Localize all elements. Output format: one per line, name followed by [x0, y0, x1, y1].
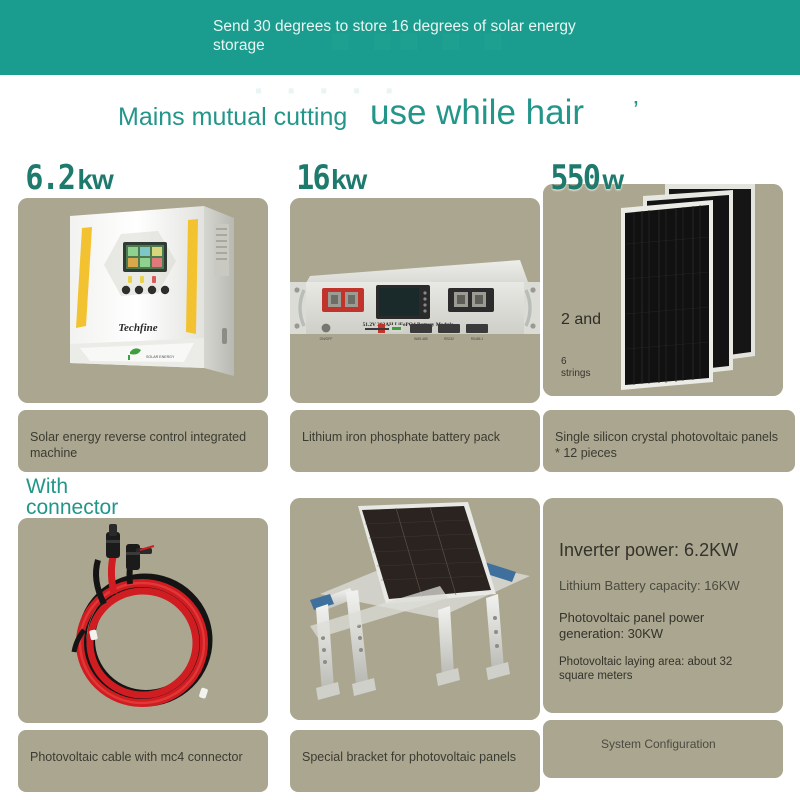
power-badge-battery: 16kw — [294, 158, 366, 198]
lithium-battery-rack-photo: 51.2V 302AH LiFePO4 Battery Module ON/OF… — [290, 198, 540, 403]
card-solar-inverter[interactable]: 6.2kw — [18, 160, 268, 480]
panels-caption: Single silicon crystal photovoltaic pane… — [543, 410, 795, 472]
heading-primary: use while hair — [370, 93, 584, 133]
svg-text:6: 6 — [561, 356, 567, 367]
svg-text:Techfine: Techfine — [118, 322, 157, 334]
power-badge-unit: kw — [331, 164, 366, 195]
solar-inverter-photo: Techfine SOLAR ENERGY — [18, 198, 268, 403]
svg-text:RS485-1: RS485-1 — [471, 337, 484, 341]
connector-badge: With connector — [26, 476, 156, 518]
power-badge-panel: 550w — [547, 158, 623, 198]
svg-text:strings: strings — [561, 368, 590, 379]
card-pv-bracket[interactable]: Special bracket for photovoltaic panels — [290, 480, 540, 800]
top-banner: ■ ■■ ■ ■ Send 30 degrees to store 16 deg… — [0, 0, 800, 75]
bracket-caption: Special bracket for photovoltaic panels — [290, 730, 540, 792]
battery-caption: Lithium iron phosphate battery pack — [290, 410, 540, 472]
card-pv-cable[interactable]: With connector — [18, 480, 268, 800]
banner-title: Send 30 degrees to store 16 degrees of s… — [213, 17, 613, 55]
heading-secondary: Mains mutual cutting — [118, 103, 347, 132]
battery-image: 51.2V 302AH LiFePO4 Battery Module ON/OF… — [290, 198, 540, 403]
spec-laying-area: Photovoltaic laying area: about 32 squar… — [559, 655, 767, 683]
power-badge-unit: w — [602, 164, 623, 195]
card-lithium-battery[interactable]: 16kw — [290, 160, 540, 480]
spec-panel: Inverter power: 6.2KW Lithium Battery ca… — [543, 498, 783, 713]
power-badge-number: 6.2 — [25, 158, 74, 198]
main-heading-area: ▪ ▪ ▪ ▪ ▪ Mains mutual cutting use while… — [0, 75, 800, 160]
product-card-grid: 6.2kw — [0, 160, 800, 800]
power-badge-number: 550 — [550, 158, 599, 198]
spec-inverter-power: Inverter power: 6.2KW — [559, 540, 767, 561]
solar-panels-stack-photo: 2 and 6 strings — [543, 184, 783, 396]
svg-text:BMS-485: BMS-485 — [414, 337, 428, 341]
card-solar-panels[interactable]: 550w — [543, 160, 783, 480]
power-badge-number: 16 — [296, 158, 329, 198]
svg-text:ON/OFF: ON/OFF — [320, 337, 333, 341]
svg-text:RS232: RS232 — [444, 337, 454, 341]
card-row-bottom: With connector — [0, 480, 800, 800]
spec-battery-capacity: Lithium Battery capacity: 16KW — [559, 578, 767, 593]
system-config-caption: System Configuration — [543, 720, 783, 778]
svg-text:2 and: 2 and — [561, 311, 601, 328]
power-badge-unit: kw — [77, 164, 112, 195]
card-row-top: 6.2kw — [0, 160, 800, 480]
inverter-image: Techfine SOLAR ENERGY — [18, 198, 268, 403]
svg-text:SOLAR ENERGY: SOLAR ENERGY — [146, 355, 175, 359]
pv-cable-mc4-photo — [18, 518, 268, 723]
cable-caption: Photovoltaic cable with mc4 connector — [18, 730, 268, 792]
inverter-caption: Solar energy reverse control integrated … — [18, 410, 268, 472]
heading-apostrophe: ’ — [633, 95, 639, 126]
spec-panel-generation: Photovoltaic panel power generation: 30K… — [559, 610, 767, 642]
cable-image — [18, 518, 268, 723]
product-spec-infographic: ■ ■■ ■ ■ Send 30 degrees to store 16 deg… — [0, 0, 800, 800]
panels-image: 2 and 6 strings — [543, 184, 783, 396]
pv-mounting-bracket-photo — [290, 498, 540, 720]
bracket-image — [290, 498, 540, 720]
card-system-configuration[interactable]: Inverter power: 6.2KW Lithium Battery ca… — [543, 480, 783, 800]
power-badge-inverter: 6.2kw — [22, 158, 113, 198]
